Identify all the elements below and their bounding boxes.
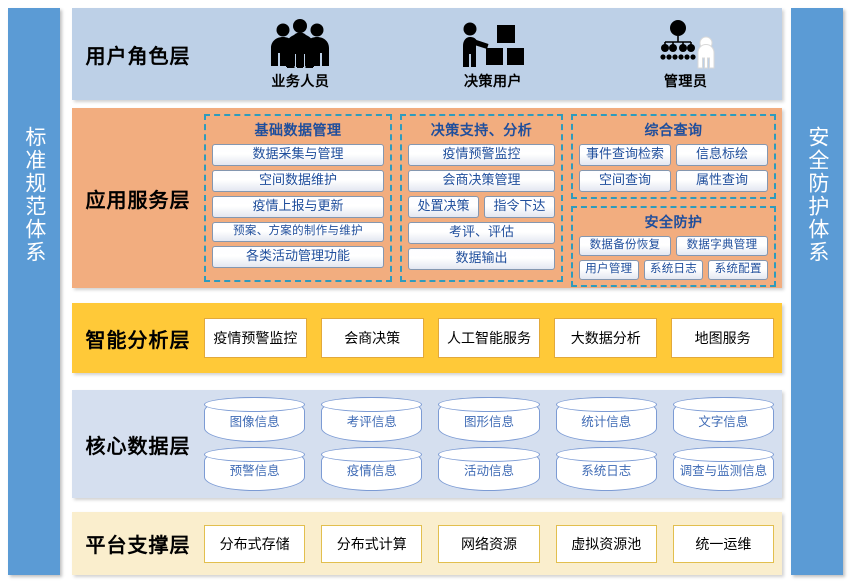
layer-platform-support-body: 分布式存储 分布式计算 网络资源 虚拟资源池 统一运维: [204, 512, 782, 575]
group-basic-data-management: 基础数据管理 数据采集与管理 空间数据维护 疫情上报与更新 预案、方案的制作与维…: [204, 114, 392, 282]
left-pillar-label: 标准规范体系: [20, 126, 48, 264]
data-store-statistics-info[interactable]: 统计信息: [556, 397, 657, 442]
layer-platform-support: 平台支撑层 分布式存储 分布式计算 网络资源 虚拟资源池 统一运维: [72, 512, 782, 575]
app-item-command-issuance[interactable]: 指令下达: [484, 196, 555, 218]
group-security-protection: 安全防护 数据备份恢复 数据字典管理 用户管理 系统日志 系统配置: [571, 206, 776, 287]
layer-intelligent-analysis-label: 智能分析层: [72, 324, 204, 353]
right-pillar-security: 安全防护体系: [791, 8, 843, 575]
layer-intelligent-analysis: 智能分析层 疫情预警监控 会商决策 人工智能服务 大数据分析 地图服务: [72, 303, 782, 373]
app-item-epidemic-report-update[interactable]: 疫情上报与更新: [212, 196, 384, 218]
group-decision-support-analysis: 决策支持、分析 疫情预警监控 会商决策管理 处置决策 指令下达 考评、评估 数据…: [400, 114, 563, 282]
platform-item-network-resources[interactable]: 网络资源: [438, 525, 539, 563]
app-item-epidemic-warning-monitor[interactable]: 疫情预警监控: [408, 144, 555, 166]
role-business-staff[interactable]: 业务人员: [204, 17, 397, 91]
app-item-spatial-query[interactable]: 空间查询: [579, 170, 671, 192]
role-business-staff-label: 业务人员: [271, 71, 329, 91]
app-column-query-security: 综合查询 事件查询检索 信息标绘 空间查询 属性查询: [571, 114, 776, 282]
group-comprehensive-query: 综合查询 事件查询检索 信息标绘 空间查询 属性查询: [571, 114, 776, 199]
layer-core-data-label: 核心数据层: [72, 430, 204, 459]
intel-item-epidemic-warning-monitor[interactable]: 疫情预警监控: [204, 318, 307, 358]
layer-user-role-label: 用户角色层: [72, 40, 204, 69]
app-item-plan-creation-maintenance[interactable]: 预案、方案的制作与维护: [212, 222, 384, 242]
role-decision-user[interactable]: 决策用户: [397, 17, 590, 91]
app-item-spatial-data-maintenance[interactable]: 空间数据维护: [212, 170, 384, 192]
app-item-system-config[interactable]: 系统配置: [708, 260, 768, 280]
intel-item-consultation-decision[interactable]: 会商决策: [321, 318, 424, 358]
layer-core-data: 核心数据层 图像信息 考评信息 图形信息 统计信息 文字信息 预警信息 疫情信息…: [72, 390, 782, 498]
app-column-decision-support: 决策支持、分析 疫情预警监控 会商决策管理 处置决策 指令下达 考评、评估 数据…: [400, 114, 563, 282]
group-security-protection-title: 安全防护: [579, 212, 768, 232]
person-with-blocks-icon: [459, 17, 527, 69]
left-pillar-standards: 标准规范体系: [8, 8, 60, 575]
data-store-image-info[interactable]: 图像信息: [204, 397, 305, 442]
data-store-activity-info[interactable]: 活动信息: [438, 447, 539, 492]
app-item-data-dictionary-mgmt[interactable]: 数据字典管理: [676, 236, 768, 256]
layer-application-service-label: 应用服务层: [72, 184, 204, 213]
app-column-basic-data: 基础数据管理 数据采集与管理 空间数据维护 疫情上报与更新 预案、方案的制作与维…: [204, 114, 392, 282]
platform-item-unified-ops[interactable]: 统一运维: [673, 525, 774, 563]
app-item-data-backup-recovery[interactable]: 数据备份恢复: [579, 236, 671, 256]
role-administrator[interactable]: 管理员: [589, 17, 782, 91]
data-store-assessment-info[interactable]: 考评信息: [321, 397, 422, 442]
layer-core-data-body: 图像信息 考评信息 图形信息 统计信息 文字信息 预警信息 疫情信息 活动信息 …: [204, 390, 782, 498]
role-decision-user-label: 决策用户: [464, 71, 522, 91]
app-item-attribute-query[interactable]: 属性查询: [676, 170, 768, 192]
group-basic-data-management-title: 基础数据管理: [212, 120, 384, 140]
data-store-system-log[interactable]: 系统日志: [556, 447, 657, 492]
org-hierarchy-icon: [655, 17, 717, 69]
app-item-consultation-decision-mgmt[interactable]: 会商决策管理: [408, 170, 555, 192]
role-administrator-label: 管理员: [664, 71, 708, 91]
app-item-information-plotting[interactable]: 信息标绘: [676, 144, 768, 166]
group-of-people-icon: [267, 17, 333, 69]
layer-intelligent-analysis-body: 疫情预警监控 会商决策 人工智能服务 大数据分析 地图服务: [204, 303, 782, 373]
app-item-event-query-search[interactable]: 事件查询检索: [579, 144, 671, 166]
data-store-warning-info[interactable]: 预警信息: [204, 447, 305, 492]
app-item-activity-management[interactable]: 各类活动管理功能: [212, 246, 384, 268]
intel-item-map-service[interactable]: 地图服务: [671, 318, 774, 358]
app-item-user-management[interactable]: 用户管理: [579, 260, 639, 280]
app-item-data-collection[interactable]: 数据采集与管理: [212, 144, 384, 166]
architecture-diagram: 标准规范体系 安全防护体系 用户角色层: [0, 0, 851, 583]
group-decision-support-analysis-title: 决策支持、分析: [408, 120, 555, 140]
right-pillar-label: 安全防护体系: [803, 126, 831, 264]
app-item-data-output[interactable]: 数据输出: [408, 248, 555, 270]
layer-user-role-body: 业务人员 决策用: [204, 8, 782, 100]
data-store-graphic-info[interactable]: 图形信息: [438, 397, 539, 442]
group-comprehensive-query-title: 综合查询: [579, 120, 768, 140]
platform-item-virtual-resource-pool[interactable]: 虚拟资源池: [556, 525, 657, 563]
data-store-survey-monitoring-info[interactable]: 调查与监测信息: [673, 447, 774, 492]
layer-user-role: 用户角色层: [72, 8, 782, 100]
layer-platform-support-label: 平台支撑层: [72, 529, 204, 558]
app-item-disposal-decision[interactable]: 处置决策: [408, 196, 479, 218]
data-store-text-info[interactable]: 文字信息: [673, 397, 774, 442]
layer-application-service: 应用服务层 基础数据管理 数据采集与管理 空间数据维护 疫情上报与更新 预案、方…: [72, 108, 782, 288]
intel-item-ai-service[interactable]: 人工智能服务: [438, 318, 541, 358]
intel-item-big-data-analysis[interactable]: 大数据分析: [554, 318, 657, 358]
platform-item-distributed-computing[interactable]: 分布式计算: [321, 525, 422, 563]
layer-application-service-body: 基础数据管理 数据采集与管理 空间数据维护 疫情上报与更新 预案、方案的制作与维…: [204, 108, 782, 288]
app-item-system-log[interactable]: 系统日志: [644, 260, 704, 280]
platform-item-distributed-storage[interactable]: 分布式存储: [204, 525, 305, 563]
data-store-epidemic-info[interactable]: 疫情信息: [321, 447, 422, 492]
app-item-assessment-evaluation[interactable]: 考评、评估: [408, 222, 555, 244]
